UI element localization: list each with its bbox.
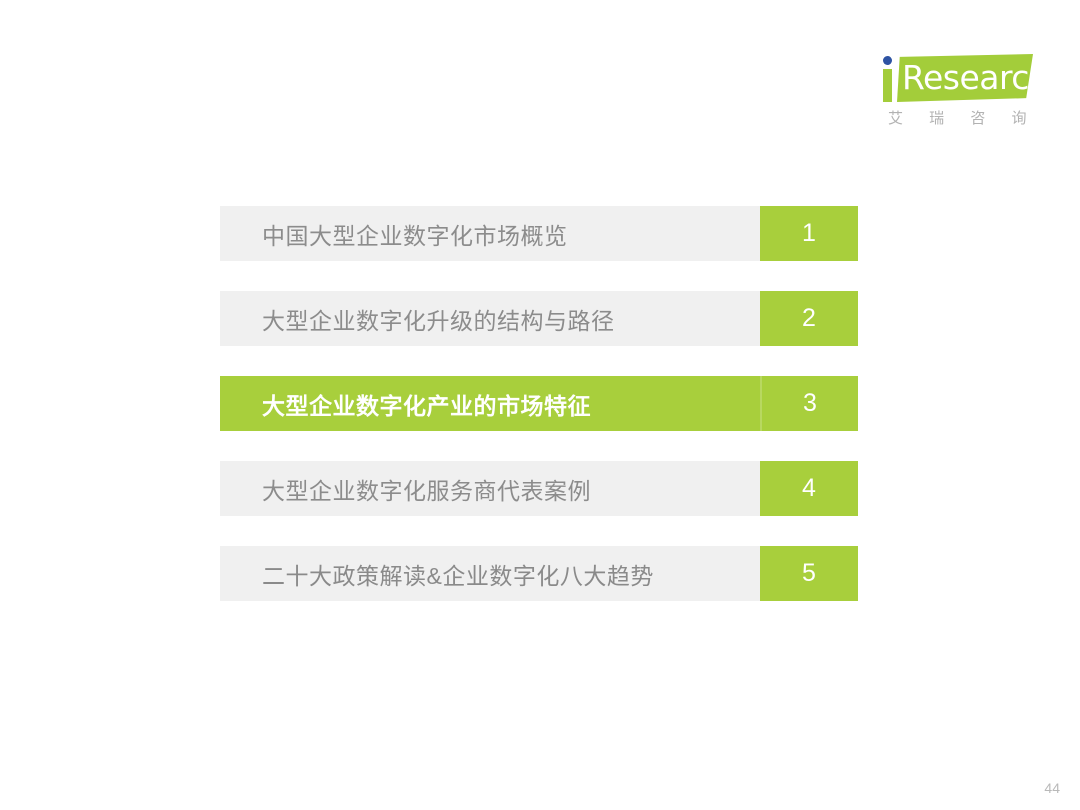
- agenda-item-number-3[interactable]: 3: [760, 376, 858, 431]
- agenda-item-number-2[interactable]: 2: [760, 291, 858, 346]
- page-number: 44: [1044, 780, 1060, 796]
- agenda-item-number-1[interactable]: 1: [760, 206, 858, 261]
- agenda-list: 中国大型企业数字化市场概览 1 大型企业数字化升级的结构与路径 2 大型企业数字…: [220, 206, 858, 601]
- logo-mark: Research: [878, 52, 1033, 104]
- logo-i-stem-icon: [883, 69, 892, 102]
- agenda-item-label-4[interactable]: 大型企业数字化服务商代表案例: [220, 461, 760, 516]
- logo-wordmark: Research: [902, 58, 1030, 100]
- agenda-row-2[interactable]: 大型企业数字化升级的结构与路径 2: [220, 291, 858, 346]
- agenda-item-label-3[interactable]: 大型企业数字化产业的市场特征: [220, 376, 760, 431]
- agenda-item-number-4[interactable]: 4: [760, 461, 858, 516]
- agenda-item-number-5[interactable]: 5: [760, 546, 858, 601]
- agenda-item-label-5[interactable]: 二十大政策解读&企业数字化八大趋势: [220, 546, 760, 601]
- agenda-item-label-1[interactable]: 中国大型企业数字化市场概览: [220, 206, 760, 261]
- logo-subtitle: 艾 瑞 咨 询: [888, 107, 1033, 128]
- agenda-item-label-2[interactable]: 大型企业数字化升级的结构与路径: [220, 291, 760, 346]
- agenda-row-3-active[interactable]: 大型企业数字化产业的市场特征 3: [220, 376, 858, 431]
- iresearch-logo: Research 艾 瑞 咨 询: [878, 52, 1033, 134]
- agenda-row-1[interactable]: 中国大型企业数字化市场概览 1: [220, 206, 858, 261]
- agenda-row-4[interactable]: 大型企业数字化服务商代表案例 4: [220, 461, 858, 516]
- agenda-row-5[interactable]: 二十大政策解读&企业数字化八大趋势 5: [220, 546, 858, 601]
- slide-canvas: Research 艾 瑞 咨 询 中国大型企业数字化市场概览 1 大型企业数字化…: [0, 0, 1080, 810]
- logo-i-dot-icon: [883, 56, 892, 65]
